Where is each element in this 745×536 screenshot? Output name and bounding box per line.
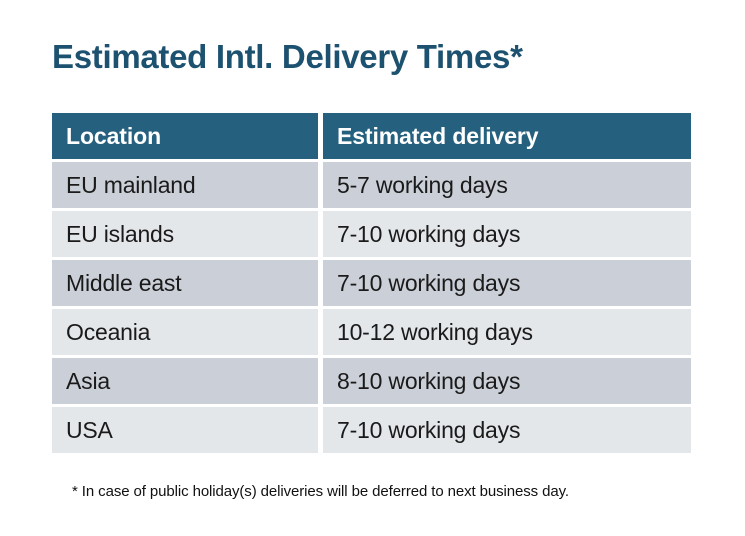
column-header-estimated-delivery: Estimated delivery — [323, 113, 691, 159]
cell-location: USA — [52, 407, 318, 453]
cell-location: EU islands — [52, 211, 318, 257]
cell-location: Middle east — [52, 260, 318, 306]
cell-delivery: 7-10 working days — [323, 260, 691, 306]
page-title: Estimated Intl. Delivery Times* — [52, 36, 712, 78]
table-row: USA 7-10 working days — [52, 407, 691, 453]
table-row: Asia 8-10 working days — [52, 358, 691, 404]
table-header-row: Location Estimated delivery — [52, 113, 691, 159]
footnote-text: * In case of public holiday(s) deliverie… — [72, 482, 712, 502]
cell-location: Oceania — [52, 309, 318, 355]
cell-location: EU mainland — [52, 162, 318, 208]
cell-delivery: 10-12 working days — [323, 309, 691, 355]
cell-location: Asia — [52, 358, 318, 404]
cell-delivery: 5-7 working days — [323, 162, 691, 208]
delivery-times-page: Estimated Intl. Delivery Times* Location… — [0, 0, 745, 536]
cell-delivery: 8-10 working days — [323, 358, 691, 404]
column-header-location: Location — [52, 113, 318, 159]
table-row: Middle east 7-10 working days — [52, 260, 691, 306]
delivery-times-table: Location Estimated delivery EU mainland … — [52, 113, 691, 453]
cell-delivery: 7-10 working days — [323, 211, 691, 257]
table-row: EU islands 7-10 working days — [52, 211, 691, 257]
table-row: EU mainland 5-7 working days — [52, 162, 691, 208]
cell-delivery: 7-10 working days — [323, 407, 691, 453]
table-row: Oceania 10-12 working days — [52, 309, 691, 355]
